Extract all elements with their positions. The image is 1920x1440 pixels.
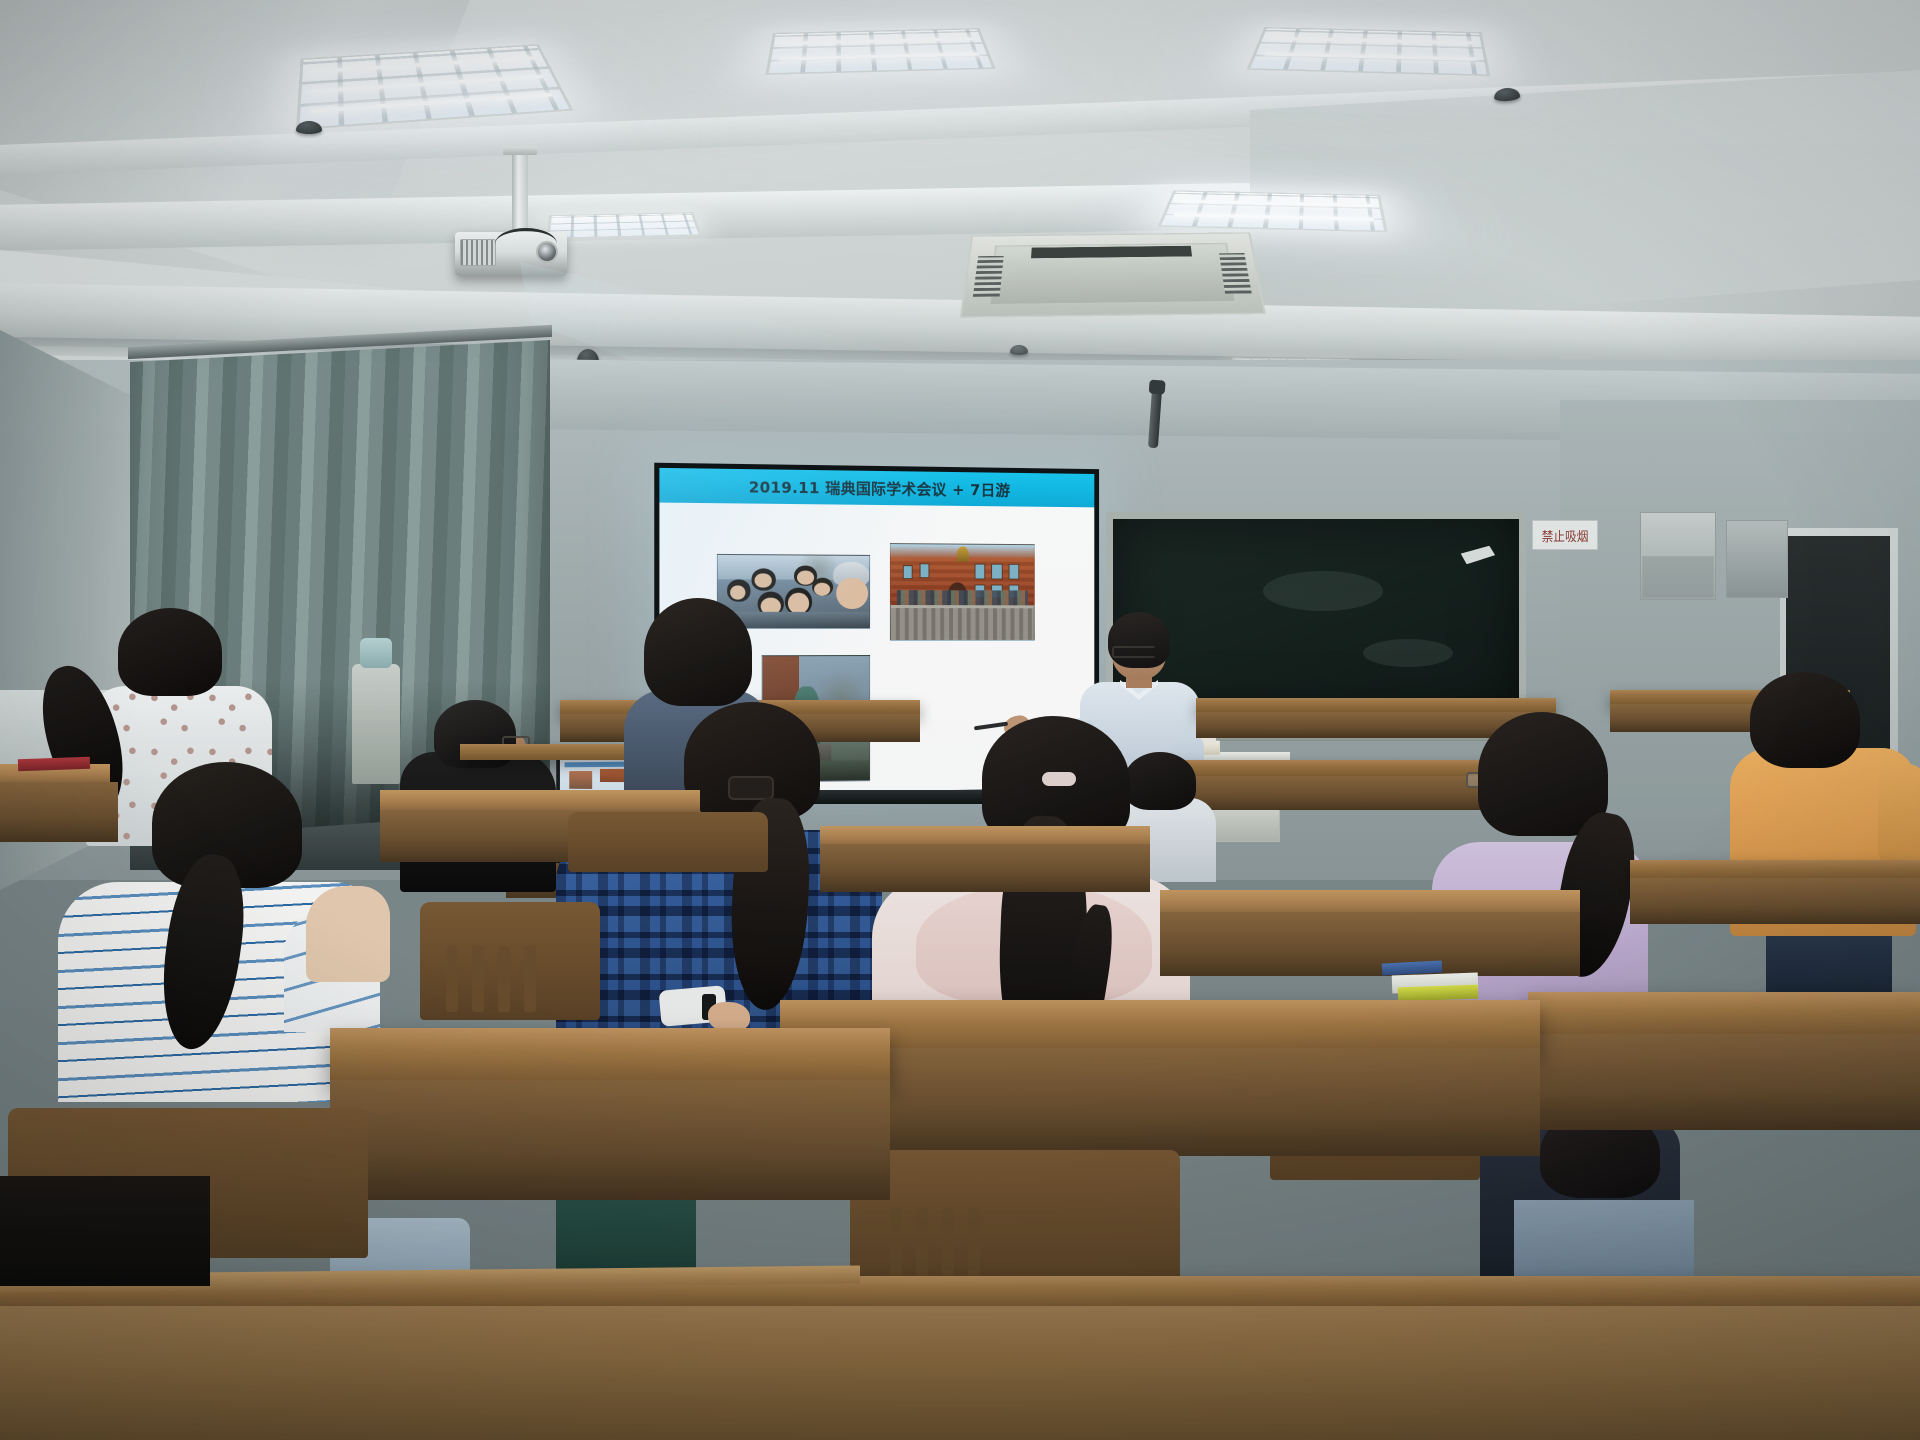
photo-tower-dome xyxy=(957,546,968,561)
chalk-smudge xyxy=(1363,639,1453,667)
no-smoking-sign: 禁止吸烟 xyxy=(1532,520,1598,550)
desk-row xyxy=(1630,860,1920,880)
hair-tie xyxy=(1042,772,1076,786)
desk-row xyxy=(1528,992,1920,1038)
glasses-icon xyxy=(1112,646,1156,658)
projector-lens-icon xyxy=(536,241,558,263)
desk-row xyxy=(380,790,700,812)
photo-window xyxy=(920,563,930,577)
person-hair xyxy=(1750,672,1860,768)
student-hair xyxy=(684,702,820,820)
desk-row-front xyxy=(1160,912,1580,976)
projector-mount-pole xyxy=(512,152,528,238)
photo-window xyxy=(1008,564,1019,579)
photo-window xyxy=(974,564,985,579)
ceiling-light-panel xyxy=(765,28,995,75)
photo-window xyxy=(902,565,912,578)
classroom-photo-scene: 禁止吸烟 2019.11 瑞典国际学术会议 + 7日游 xyxy=(0,0,1920,1440)
ceiling-projector xyxy=(455,232,567,276)
desk-row-front xyxy=(820,844,1150,892)
photo-person-face xyxy=(814,582,831,595)
photo-person-face xyxy=(788,593,809,613)
ac-side-louver xyxy=(1219,253,1252,294)
ceiling-light-panel xyxy=(1158,190,1388,232)
desk-row-front xyxy=(1630,878,1920,924)
presenter-hair xyxy=(1108,612,1170,668)
chalk-smudge xyxy=(1263,571,1383,611)
chair-slat xyxy=(498,946,510,1012)
smoke-detector-icon xyxy=(1010,345,1028,355)
photo-person-face xyxy=(836,577,867,609)
slide-title-bar: 2019.11 瑞典国际学术会议 + 7日游 xyxy=(659,468,1094,507)
ac-side-louver xyxy=(973,256,1004,297)
person-orange-shirt xyxy=(1716,672,1916,1002)
chair-slat xyxy=(524,946,536,1012)
under-desk-shadow xyxy=(0,1176,210,1286)
photo-person-face xyxy=(797,571,814,585)
ac-intake-vent xyxy=(1031,246,1192,258)
student-hair xyxy=(118,608,222,696)
air-conditioner-unit xyxy=(960,232,1266,318)
red-book xyxy=(18,757,90,772)
chair-slat xyxy=(472,946,484,1012)
no-smoking-sign-label: 禁止吸烟 xyxy=(1542,526,1589,545)
chair-back[interactable] xyxy=(568,812,768,872)
smoke-detector-icon xyxy=(296,121,322,134)
paper-on-blackboard xyxy=(1460,545,1495,564)
slide-title: 2019.11 瑞典国际学术会议 + 7日游 xyxy=(749,476,1011,500)
desk-row-front xyxy=(1528,1034,1920,1130)
electrical-panel-box[interactable] xyxy=(1726,520,1788,598)
photo-window xyxy=(991,564,1002,579)
ceiling-light-panel xyxy=(546,212,702,239)
light-diffuser-grid xyxy=(769,29,992,73)
foreground-desk-top xyxy=(0,1306,1920,1440)
projector-vent xyxy=(460,239,496,266)
photo-balustrade xyxy=(891,605,1034,640)
photo-crowd xyxy=(897,590,1028,606)
brick-building-photo xyxy=(890,543,1035,641)
photo-person-face xyxy=(755,573,772,588)
student-hair xyxy=(644,598,752,706)
desk-row-front xyxy=(0,782,118,842)
electrical-panel-shadow xyxy=(1642,556,1714,598)
desk-row-front xyxy=(780,1048,1540,1156)
person-sleeve xyxy=(1878,764,1920,868)
desk-row xyxy=(330,1028,890,1086)
hair-clip xyxy=(728,776,774,800)
highlighter-notebook xyxy=(1398,985,1478,1002)
student-arm xyxy=(306,886,390,982)
light-diffuser-grid xyxy=(1250,28,1486,74)
chair-slats xyxy=(446,946,536,1012)
chair-slat xyxy=(446,946,458,1012)
light-diffuser-grid xyxy=(1161,192,1384,231)
desk-row-front xyxy=(330,1080,890,1200)
light-diffuser-grid xyxy=(550,213,699,237)
ceiling-light-panel xyxy=(1247,27,1491,76)
desk-row xyxy=(780,1000,1540,1054)
